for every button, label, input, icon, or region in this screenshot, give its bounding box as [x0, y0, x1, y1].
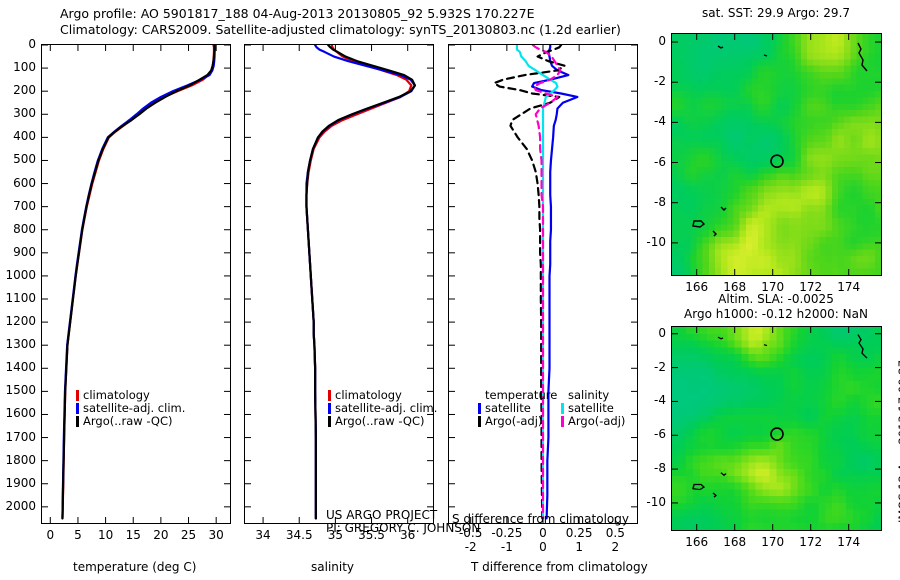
difference-legend-temperature: temperature satellite Argo(-adj) [478, 389, 557, 428]
salinity-legend: climatology satellite-adj. clim. Argo(..… [328, 389, 437, 428]
salinity-x-label: salinity [311, 560, 354, 574]
axis-tick-label: 2 [590, 540, 640, 554]
legend-swatch-temperature-argo [478, 416, 481, 427]
difference-legend-salinity: salinity satellite Argo(-adj) [561, 389, 625, 428]
legend-swatch-salinity-satellite [561, 403, 564, 414]
axis-tick-label: 900 [0, 245, 36, 259]
imos-timestamp: IMOS 12-Aug-2013 17:00:27 [896, 360, 900, 523]
axis-tick-label: 1600 [0, 406, 36, 420]
axis-tick-label: 1300 [0, 337, 36, 351]
axis-tick-label: 174 [824, 535, 874, 549]
legend-item: Argo(..raw -QC) [76, 415, 185, 428]
panel-temperature [41, 44, 231, 524]
legend-swatch-climatology [328, 390, 331, 401]
legend-label: Argo(..raw -QC) [83, 415, 173, 428]
axis-tick-label: -10 [628, 235, 666, 249]
legend-swatch-argo [76, 416, 79, 427]
legend-swatch-climatology [76, 390, 79, 401]
legend-item: Argo(-adj) [478, 415, 557, 428]
legend-swatch-argo [328, 416, 331, 427]
sst-map-area [672, 34, 881, 275]
difference-s-label: S difference from climatology [452, 512, 629, 526]
salinity-plot-area [245, 45, 433, 523]
sla-map-title-line-1: Altim. SLA: -0.0025 [668, 292, 884, 306]
axis-tick-label: -8 [628, 461, 666, 475]
axis-tick-label: 1800 [0, 453, 36, 467]
series-argo-raw-qc- [306, 45, 414, 518]
axis-tick-label: -6 [628, 427, 666, 441]
legend-swatch-salinity-argo [561, 416, 564, 427]
axis-tick-label: 1400 [0, 360, 36, 374]
temperature-x-label: temperature (deg C) [73, 560, 196, 574]
legend-swatch-temperature-satellite [478, 403, 481, 414]
axis-tick-label: -10 [628, 495, 666, 509]
figure-title-line-1: Argo profile: AO 5901817_188 04-Aug-2013… [60, 6, 534, 21]
axis-tick-label: -8 [628, 195, 666, 209]
legend-label: Argo(-adj) [485, 415, 542, 428]
legend-label: Argo(-adj) [568, 415, 625, 428]
legend-swatch-satellite [328, 403, 331, 414]
axis-tick-label: -4 [628, 114, 666, 128]
axis-tick-label: 0 [0, 37, 36, 51]
legend-label: Argo(..raw -QC) [335, 415, 425, 428]
axis-tick-label: 1200 [0, 314, 36, 328]
axis-tick-label: 0 [628, 34, 666, 48]
map-sst [671, 33, 882, 276]
axis-tick-label: 600 [0, 176, 36, 190]
panel-difference [448, 44, 638, 524]
axis-tick-label: 30 [191, 528, 241, 542]
panel-salinity [244, 44, 434, 524]
axis-tick-label: 100 [0, 60, 36, 74]
axis-tick-label: 500 [0, 152, 36, 166]
legend-item: Argo(-adj) [561, 415, 625, 428]
axis-tick-label: 2000 [0, 499, 36, 513]
legend-item: Argo(..raw -QC) [328, 415, 437, 428]
series-argo-raw-qc- [62, 45, 214, 518]
axis-tick-label: 800 [0, 222, 36, 236]
temperature-legend: climatology satellite-adj. clim. Argo(..… [76, 389, 185, 428]
axis-tick-label: 0 [628, 326, 666, 340]
axis-tick-label: 1000 [0, 268, 36, 282]
series-satellite-adj-clim- [306, 45, 414, 518]
temperature-plot-area [42, 45, 230, 523]
sla-map-area [672, 327, 881, 530]
difference-t-label: T difference from climatology [471, 560, 648, 574]
axis-tick-label: -2 [628, 74, 666, 88]
series-temperature-satellite [532, 45, 577, 518]
difference-plot-area [449, 45, 637, 523]
sst-map-title: sat. SST: 29.9 Argo: 29.7 [668, 6, 884, 20]
credit-line-1: US ARGO PROJECT [326, 508, 437, 522]
sla-map-title-line-2: Argo h1000: -0.12 h2000: NaN [658, 307, 894, 321]
axis-tick-label: 700 [0, 199, 36, 213]
axis-tick-label: 400 [0, 129, 36, 143]
axis-tick-label: -6 [628, 155, 666, 169]
series-climatology [306, 45, 411, 518]
axis-tick-label: -4 [628, 393, 666, 407]
legend-swatch-satellite [76, 403, 79, 414]
map-sla [671, 326, 882, 531]
axis-tick-label: 200 [0, 83, 36, 97]
axis-tick-label: 1100 [0, 291, 36, 305]
axis-tick-label: 300 [0, 106, 36, 120]
axis-tick-label: 1500 [0, 383, 36, 397]
axis-tick-label: 1700 [0, 430, 36, 444]
figure-title-line-2: Climatology: CARS2009. Satellite-adjuste… [60, 22, 621, 37]
axis-tick-label: 0.5 [590, 526, 640, 540]
axis-tick-label: -2 [628, 360, 666, 374]
series-temperature-argo-adj- [494, 45, 565, 518]
axis-tick-label: 1900 [0, 476, 36, 490]
